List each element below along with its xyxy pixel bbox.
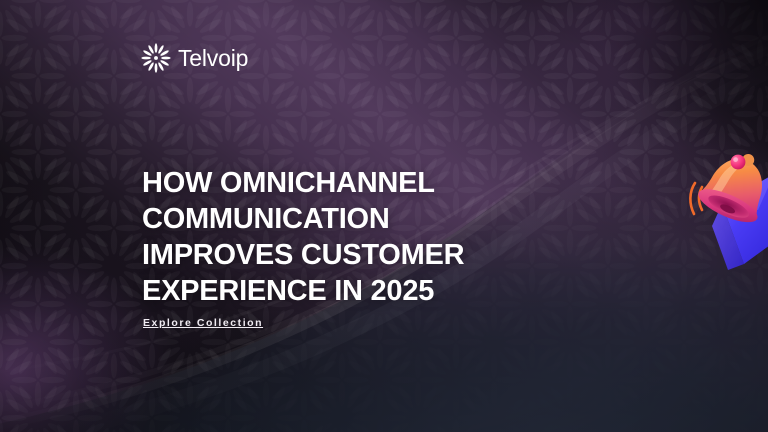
headline-line-4: EXPERIENCE IN 2025 — [142, 273, 572, 309]
headline-line-1: HOW OMNICHANNEL — [142, 165, 572, 201]
hero-content: Telvoip HOW OMNICHANNEL COMMUNICATION IM… — [0, 0, 768, 432]
hero-banner: Telvoip HOW OMNICHANNEL COMMUNICATION IM… — [0, 0, 768, 432]
notification-3d-illustration — [688, 152, 768, 276]
headline-line-2: COMMUNICATION — [142, 201, 572, 237]
explore-collection-link[interactable]: Explore Collection — [143, 317, 263, 329]
headline-line-3: IMPROVES CUSTOMER — [142, 237, 572, 273]
notification-badge-dot — [731, 155, 746, 170]
notification-bell-envelope-icon — [688, 152, 768, 276]
starburst-icon — [141, 43, 171, 73]
brand-logo[interactable]: Telvoip — [141, 43, 248, 73]
page-title: HOW OMNICHANNEL COMMUNICATION IMPROVES C… — [142, 165, 572, 309]
brand-wordmark: Telvoip — [178, 47, 248, 70]
